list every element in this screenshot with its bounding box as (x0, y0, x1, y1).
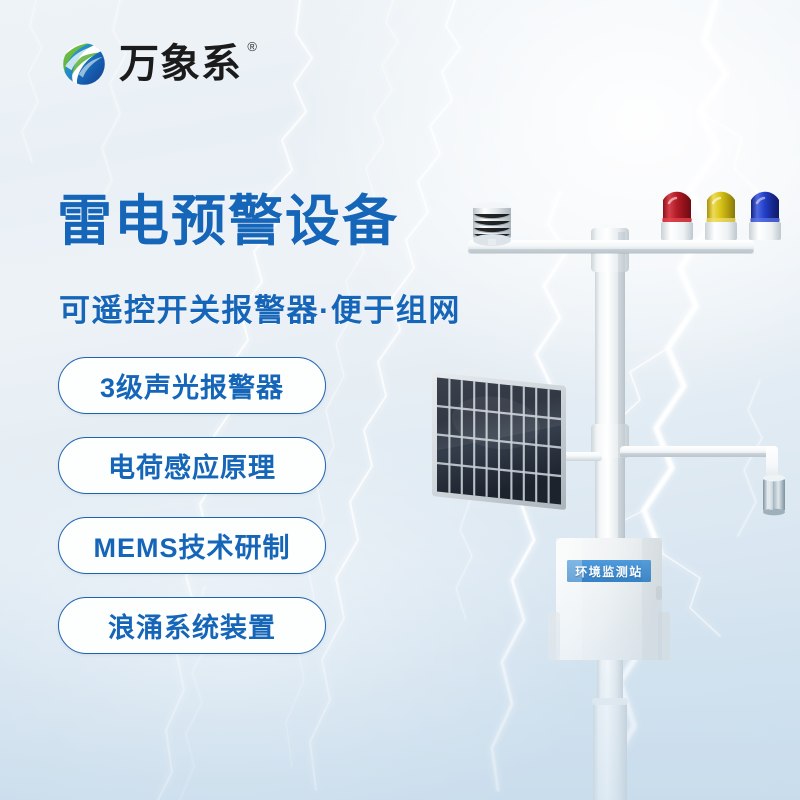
feature-pill-4[interactable]: 浪涌系统装置 (58, 597, 326, 654)
blue-alarm-beacon (749, 192, 781, 240)
feature-pill-3-label: MEMS技术研制 (94, 526, 291, 565)
feature-pill-1-label: 3级声光报警器 (100, 366, 284, 405)
enclosure-label-text: 环境监测站 (567, 560, 651, 582)
registered-trademark-icon: ® (247, 40, 258, 53)
feature-pill-3[interactable]: MEMS技术研制 (58, 517, 326, 574)
feature-list: 3级声光报警器 电荷感应原理 MEMS技术研制 浪涌系统装置 (58, 357, 326, 654)
mounting-pole (591, 228, 629, 800)
globe-swirl-logo-icon (58, 38, 110, 90)
radiation-shield-sensor (473, 202, 511, 246)
enclosure-box (548, 538, 670, 660)
cross-arm (468, 240, 754, 254)
brand-logo[interactable]: 万象系 ® (58, 38, 242, 90)
alarm-beacon-stack (661, 192, 781, 240)
page-title: 雷电预警设备 (57, 192, 399, 250)
feature-pill-1[interactable]: 3级声光报警器 (58, 357, 326, 414)
page-subtitle: 可遥控开关报警器·便于组网 (59, 285, 461, 330)
red-alarm-beacon (661, 192, 693, 240)
yellow-alarm-beacon (705, 192, 737, 240)
feature-pill-4-label: 浪涌系统装置 (108, 606, 276, 645)
brand-name: 万象系 ® (119, 44, 242, 84)
side-arm-sensor (620, 446, 785, 515)
solar-panel (432, 372, 602, 510)
brand-name-text: 万象系 (119, 42, 242, 86)
feature-pill-2[interactable]: 电荷感应原理 (58, 437, 326, 494)
feature-pill-2-label: 电荷感应原理 (108, 446, 276, 485)
promo-banner: 环境监测站 (0, 0, 800, 800)
